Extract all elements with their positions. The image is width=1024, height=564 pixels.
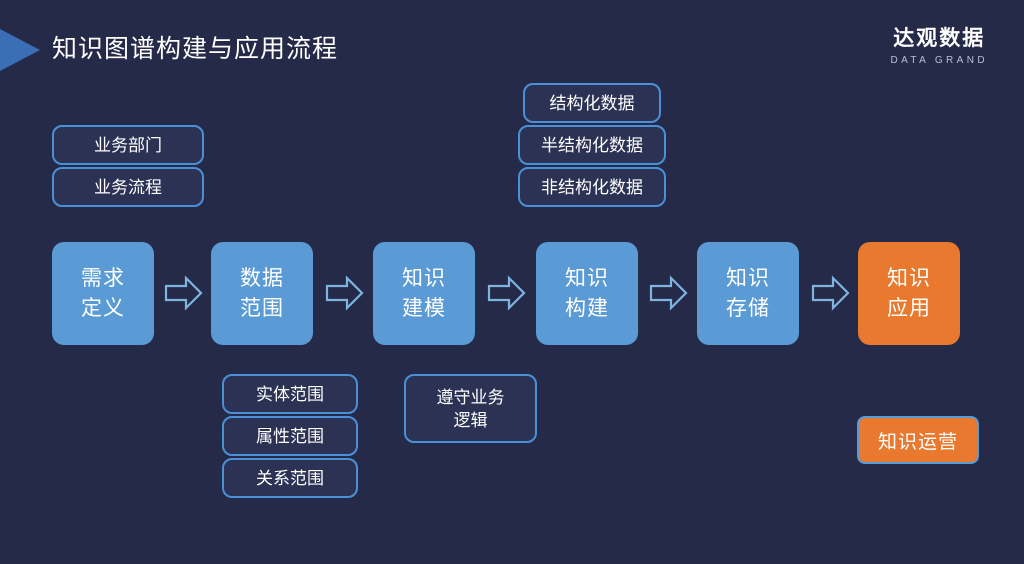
brand-logo: 达观数据 DATA GRAND <box>890 26 988 69</box>
page-title: 知识图谱构建与应用流程 <box>52 30 338 68</box>
tag-structured-data[interactable]: 结构化数据 <box>523 83 661 123</box>
flow-arrow-1-icon <box>164 273 204 313</box>
tag-entity-scope[interactable]: 实体范围 <box>222 374 358 414</box>
flow-arrow-3-icon <box>487 273 527 313</box>
brand-logo-cn: 达观数据 <box>890 26 988 51</box>
tag-semi-structured-data[interactable]: 半结构化数据 <box>518 125 666 165</box>
tag-business-logic-compliance[interactable]: 遵守业务逻辑 <box>404 374 537 443</box>
flow-step-knowledge-construction[interactable]: 知识构建 <box>536 242 638 345</box>
flow-step-knowledge-application[interactable]: 知识应用 <box>858 242 960 345</box>
flow-arrow-4-icon <box>649 273 689 313</box>
brand-logo-en: DATA GRAND <box>890 53 988 69</box>
flow-step-data-scope[interactable]: 数据范围 <box>211 242 313 345</box>
flow-step-label: 需求定义 <box>81 264 125 324</box>
knowledge-operations-box[interactable]: 知识运营 <box>857 416 979 464</box>
flow-step-label: 知识建模 <box>402 264 446 324</box>
flow-step-requirement-definition[interactable]: 需求定义 <box>52 242 154 345</box>
flow-step-label: 知识构建 <box>565 264 609 324</box>
flow-arrow-2-icon <box>325 273 365 313</box>
flow-step-label: 数据范围 <box>240 264 284 324</box>
flow-step-knowledge-modeling[interactable]: 知识建模 <box>373 242 475 345</box>
tag-business-department[interactable]: 业务部门 <box>52 125 204 165</box>
flow-step-label: 知识存储 <box>726 264 770 324</box>
tag-attribute-scope[interactable]: 属性范围 <box>222 416 358 456</box>
flow-step-knowledge-storage[interactable]: 知识存储 <box>697 242 799 345</box>
tag-unstructured-data[interactable]: 非结构化数据 <box>518 167 666 207</box>
flow-step-label: 知识应用 <box>887 264 931 324</box>
tag-business-logic-label: 遵守业务逻辑 <box>437 386 505 432</box>
tag-business-process[interactable]: 业务流程 <box>52 167 204 207</box>
header-chevron-icon <box>0 29 40 71</box>
tag-relation-scope[interactable]: 关系范围 <box>222 458 358 498</box>
flow-arrow-5-icon <box>811 273 851 313</box>
